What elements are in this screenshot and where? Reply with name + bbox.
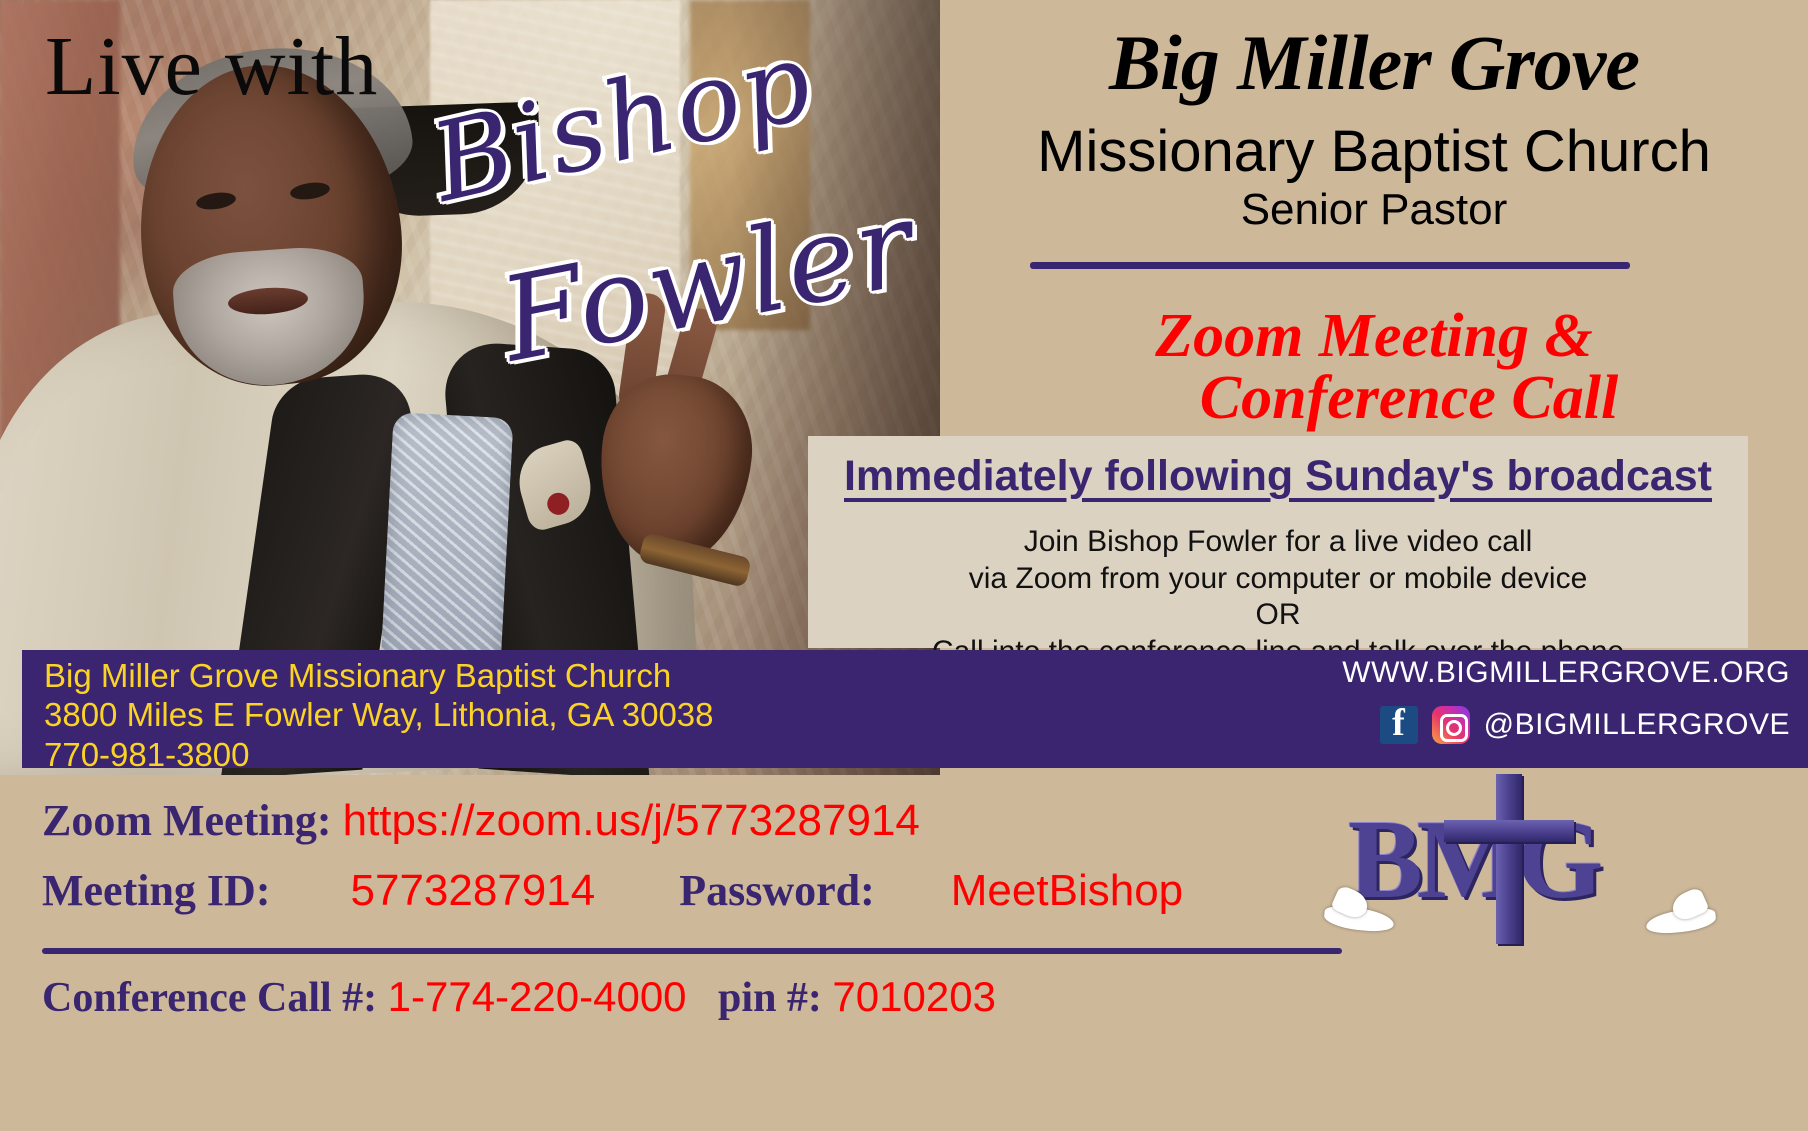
panel-line-2: via Zoom from your computer or mobile de… <box>808 561 1748 598</box>
live-with-heading: Live with <box>45 18 378 115</box>
church-subtitle: Missionary Baptist Church <box>940 118 1808 185</box>
zoom-meeting-label: Zoom Meeting: <box>42 796 332 845</box>
meeting-id-row: Meeting ID: 5773287914 Password: MeetBis… <box>42 865 1183 916</box>
pin-label: pin #: <box>718 975 822 1021</box>
bmg-logo: BMG <box>1348 778 1678 958</box>
zoom-meeting-url[interactable]: https://zoom.us/j/5773287914 <box>343 796 920 845</box>
event-title-line2: Conference Call <box>940 367 1808 429</box>
conference-number[interactable]: 1-774-220-4000 <box>388 973 687 1020</box>
zoom-meeting-row: Zoom Meeting: https://zoom.us/j/57732879… <box>42 795 920 846</box>
pastor-role: Senior Pastor <box>940 185 1808 235</box>
conference-call-row: Conference Call #: 1-774-220-4000 pin #:… <box>42 973 996 1022</box>
meeting-id-value[interactable]: 5773287914 <box>351 866 596 915</box>
divider-top <box>1030 262 1630 269</box>
meeting-id-label: Meeting ID: <box>42 866 271 915</box>
website-link[interactable]: WWW.BIGMILLERGROVE.ORG <box>1342 656 1790 690</box>
panel-line-1: Join Bishop Fowler for a live video call <box>808 524 1748 561</box>
instagram-icon[interactable] <box>1432 706 1470 744</box>
church-address-block: Big Miller Grove Missionary Baptist Chur… <box>44 656 714 774</box>
meeting-details: Zoom Meeting: https://zoom.us/j/57732879… <box>0 768 1808 1131</box>
social-handle[interactable]: @BIGMILLERGROVE <box>1484 708 1790 742</box>
password-label: Password: <box>679 866 875 915</box>
cross-icon <box>1496 774 1522 944</box>
church-name: Big Miller Grove <box>940 18 1808 108</box>
dove-icon-right <box>1646 896 1724 946</box>
event-title: Zoom Meeting & Conference Call <box>940 305 1808 429</box>
address-church: Big Miller Grove Missionary Baptist Chur… <box>44 656 714 695</box>
password-value[interactable]: MeetBishop <box>951 866 1183 915</box>
flyer-poster: Live with Bishop Fowler Bishop Miles E. … <box>0 0 1808 1131</box>
conference-label: Conference Call #: <box>42 975 377 1021</box>
dove-icon-left <box>1316 894 1394 944</box>
social-links[interactable]: @BIGMILLERGROVE <box>1380 706 1790 744</box>
contact-band: Big Miller Grove Missionary Baptist Chur… <box>22 650 1808 768</box>
info-panel: Immediately following Sunday's broadcast… <box>808 436 1748 648</box>
event-title-line1: Zoom Meeting & <box>1155 302 1592 370</box>
pin-value[interactable]: 7010203 <box>832 973 996 1020</box>
panel-heading: Immediately following Sunday's broadcast <box>808 452 1748 501</box>
panel-body: Join Bishop Fowler for a live video call… <box>808 524 1748 670</box>
panel-line-3: OR <box>808 597 1748 634</box>
facebook-icon[interactable] <box>1380 706 1418 744</box>
address-street: 3800 Miles E Fowler Way, Lithonia, GA 30… <box>44 695 714 734</box>
divider-bottom <box>42 948 1342 954</box>
